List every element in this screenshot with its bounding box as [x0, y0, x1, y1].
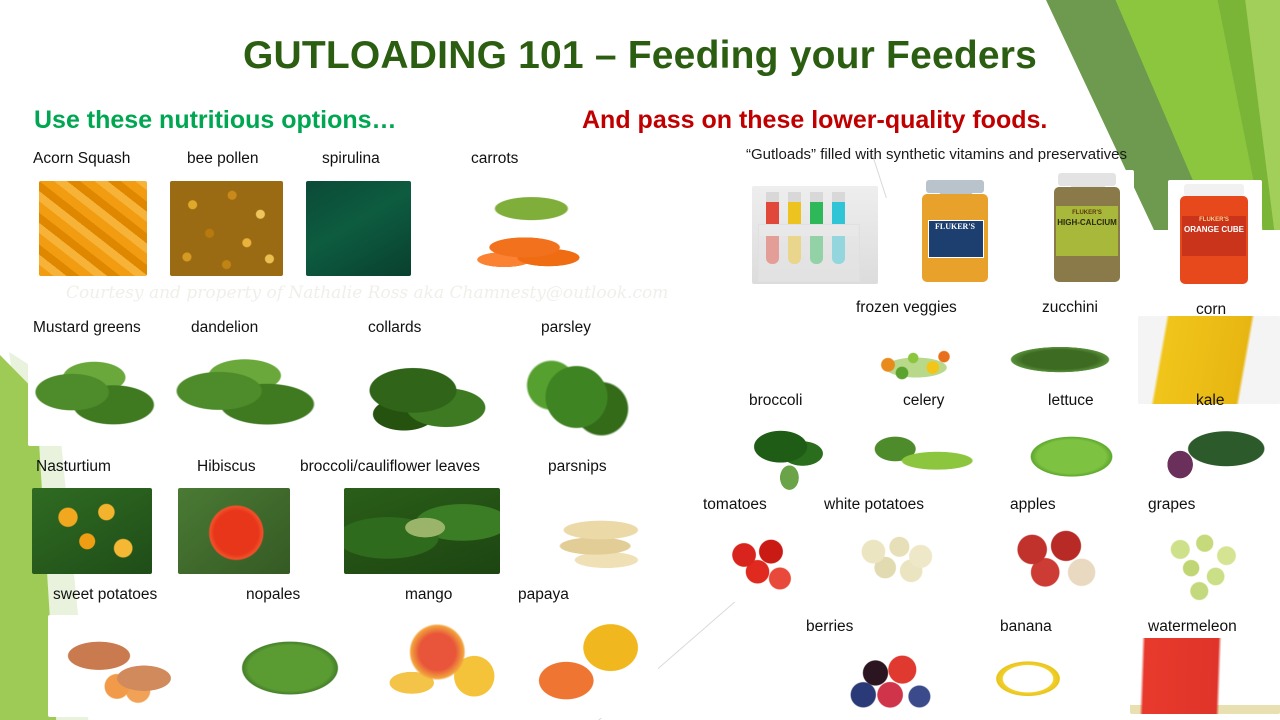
item-label-white-potatoes: white potatoes	[824, 496, 924, 514]
item-label-bee-pollen: bee pollen	[187, 150, 259, 168]
item-photo-collards	[350, 345, 500, 453]
page-title: GUTLOADING 101 – Feeding your Feeders	[0, 34, 1280, 78]
item-label-dandelion: dandelion	[191, 319, 258, 337]
item-label-tomatoes: tomatoes	[703, 496, 767, 514]
item-label-banana: banana	[1000, 618, 1052, 636]
item-label-corn: corn	[1196, 301, 1226, 319]
jar3-line-text: ORANGE CUBE	[1182, 225, 1246, 234]
item-photo-flukers-high-calcium-jar: FLUKER'S HIGH-CALCIUM	[1042, 170, 1134, 286]
item-photo-nasturtium	[32, 488, 152, 574]
item-photo-tomatoes	[706, 518, 818, 602]
item-photo-parsley	[514, 348, 639, 446]
item-label-sweet-potatoes: sweet potatoes	[53, 586, 157, 604]
item-label-parsnips: parsnips	[548, 458, 607, 476]
item-label-parsley: parsley	[541, 319, 591, 337]
item-photo-white-potatoes	[838, 518, 956, 598]
item-label-nopales: nopales	[246, 586, 300, 604]
item-photo-zucchini	[986, 318, 1134, 398]
item-label-broccoli-cauliflower-leaves: broccoli/cauliflower leaves	[300, 458, 480, 476]
item-photo-acorn-squash	[39, 181, 147, 276]
item-photo-broccoli	[730, 414, 840, 500]
item-photo-banana	[962, 634, 1094, 720]
item-photo-berries	[834, 636, 956, 720]
subtitle-bad-foods: And pass on these lower-quality foods.	[582, 106, 1047, 135]
item-photo-spirulina	[306, 181, 411, 276]
gutloading-infographic: GUTLOADING 101 – Feeding your Feeders Us…	[0, 0, 1280, 720]
item-photo-sweet-potatoes	[48, 615, 198, 717]
jar2-brand-text: FLUKER'S	[1056, 210, 1118, 216]
subtitle-good-foods: Use these nutritious options…	[34, 106, 397, 135]
item-label-collards: collards	[368, 319, 421, 337]
item-photo-flukers-orange-cube-jar: FLUKER'S ORANGE CUBE	[1168, 180, 1262, 288]
item-label-grapes: grapes	[1148, 496, 1195, 514]
watermark-text: Courtesy and property of Nathalie Ross a…	[66, 283, 668, 303]
item-label-papaya: papaya	[518, 586, 569, 604]
item-label-carrots: carrots	[471, 150, 518, 168]
item-label-kale: kale	[1196, 392, 1224, 410]
item-photo-flukers-cricket-jar: FLUKER'S	[910, 176, 1002, 286]
item-photo-parsnips	[528, 484, 668, 584]
item-photo-watermelon	[1130, 638, 1280, 714]
item-photo-bee-pollen	[170, 181, 283, 276]
item-label-watermeleon: watermeleon	[1148, 618, 1237, 636]
item-label-nasturtium: Nasturtium	[36, 458, 111, 476]
item-label-celery: celery	[903, 392, 944, 410]
item-photo-carrots	[443, 178, 613, 280]
gutload-note: “Gutloads” filled with synthetic vitamin…	[746, 146, 1127, 163]
item-photo-lettuce	[1006, 414, 1132, 496]
item-photo-apples	[988, 516, 1118, 604]
item-photo-celery	[856, 412, 996, 496]
item-photo-corn	[1138, 316, 1280, 404]
item-photo-broccoli-cauliflower-leaves	[344, 488, 500, 574]
item-label-frozen-veggies: frozen veggies	[856, 299, 957, 317]
item-photo-mango	[372, 608, 514, 718]
item-label-acorn-squash: Acorn Squash	[33, 150, 130, 168]
item-label-mustard-greens: Mustard greens	[33, 319, 141, 337]
item-label-hibiscus: Hibiscus	[197, 458, 256, 476]
item-photo-test-tubes	[752, 186, 878, 284]
item-label-apples: apples	[1010, 496, 1056, 514]
item-photo-frozen-veggies	[846, 324, 986, 392]
item-label-zucchini: zucchini	[1042, 299, 1098, 317]
item-photo-dandelion	[168, 345, 328, 447]
item-photo-nopales	[216, 615, 364, 717]
item-label-broccoli: broccoli	[749, 392, 802, 410]
jar1-brand-text: FLUKER'S	[928, 222, 982, 231]
item-photo-papaya	[510, 608, 658, 718]
item-photo-hibiscus	[178, 488, 290, 574]
item-photo-kale	[1152, 410, 1280, 498]
item-label-lettuce: lettuce	[1048, 392, 1094, 410]
item-photo-grapes	[1134, 512, 1270, 616]
jar3-brand-text: FLUKER'S	[1182, 217, 1246, 223]
item-photo-mustard-greens	[28, 348, 166, 446]
item-label-berries: berries	[806, 618, 853, 636]
item-label-spirulina: spirulina	[322, 150, 380, 168]
item-label-mango: mango	[405, 586, 452, 604]
jar2-line-text: HIGH-CALCIUM	[1056, 218, 1118, 227]
